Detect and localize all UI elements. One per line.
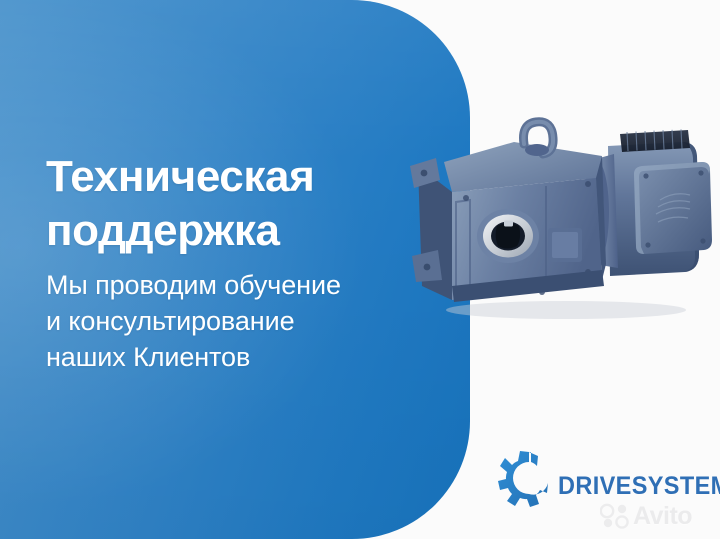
text-block: Техническая поддержка Мы проводим обучен…: [46, 150, 446, 376]
gear-icon: [498, 450, 552, 508]
page-title: Техническая поддержка: [46, 150, 446, 258]
drivesystems-logo: DRIVESYSTEMS: [498, 448, 698, 510]
banner-canvas: Техническая поддержка Мы проводим обучен…: [0, 0, 720, 539]
logo-wordmark: DRIVESYSTEMS: [558, 474, 720, 499]
page-subtitle: Мы проводим обучение и консультирование …: [46, 268, 446, 376]
